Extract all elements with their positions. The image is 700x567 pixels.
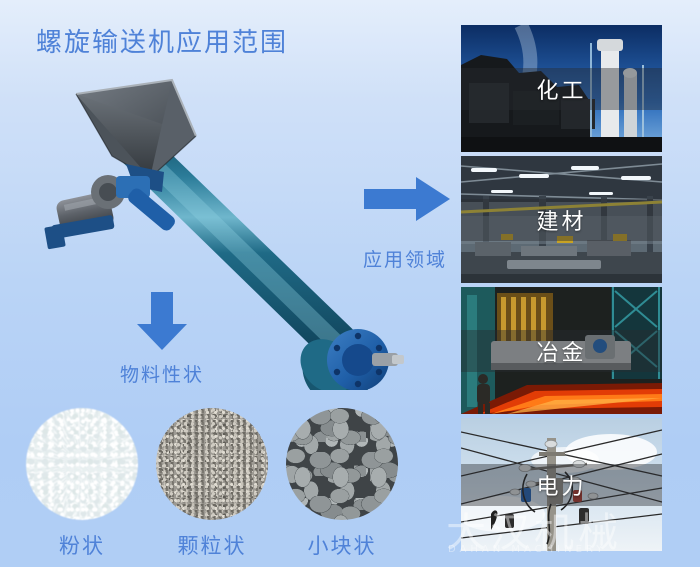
- material-types-group: 粉状 颗粒状 小块状: [14, 408, 434, 558]
- conveyor-flange: [327, 329, 404, 390]
- arrow-right-icon: [364, 175, 450, 223]
- application-panel-label: 化工: [536, 73, 586, 105]
- material-sample-granule: [156, 408, 268, 520]
- panel-label-band: 化工: [461, 68, 662, 110]
- material-item: 颗粒状: [152, 408, 272, 560]
- application-panel-label: 电力: [536, 469, 586, 501]
- panel-label-band: 冶金: [461, 330, 662, 372]
- material-label: 颗粒状: [152, 530, 272, 560]
- application-panel-label: 建材: [536, 204, 586, 236]
- flow-right-label: 应用领域: [348, 245, 462, 272]
- panel-label-band: 建材: [461, 199, 662, 241]
- material-sample-powder: [26, 408, 138, 520]
- application-panel-building: 建材: [461, 156, 662, 283]
- page-title: 螺旋输送机应用范围: [36, 22, 288, 59]
- application-panel-chemical: 化工: [461, 25, 662, 152]
- application-panels: 化工: [461, 25, 662, 551]
- material-label: 小块状: [282, 530, 402, 560]
- material-label: 粉状: [22, 530, 142, 560]
- flow-right-group: 应用领域: [352, 175, 462, 272]
- application-panel-metallurgy: 冶金: [461, 287, 662, 414]
- panel-label-band: 电力: [461, 464, 662, 506]
- material-sample-lump: [286, 408, 398, 520]
- application-panel-label: 冶金: [536, 335, 586, 367]
- application-panel-power: 电力: [461, 418, 662, 551]
- poster-canvas: 螺旋输送机应用范围: [0, 0, 700, 567]
- flow-down-group: 物料性状: [108, 292, 216, 387]
- arrow-down-icon: [135, 292, 189, 350]
- material-item: 小块状: [282, 408, 402, 560]
- material-item: 粉状: [22, 408, 142, 560]
- flow-down-label: 物料性状: [108, 360, 216, 387]
